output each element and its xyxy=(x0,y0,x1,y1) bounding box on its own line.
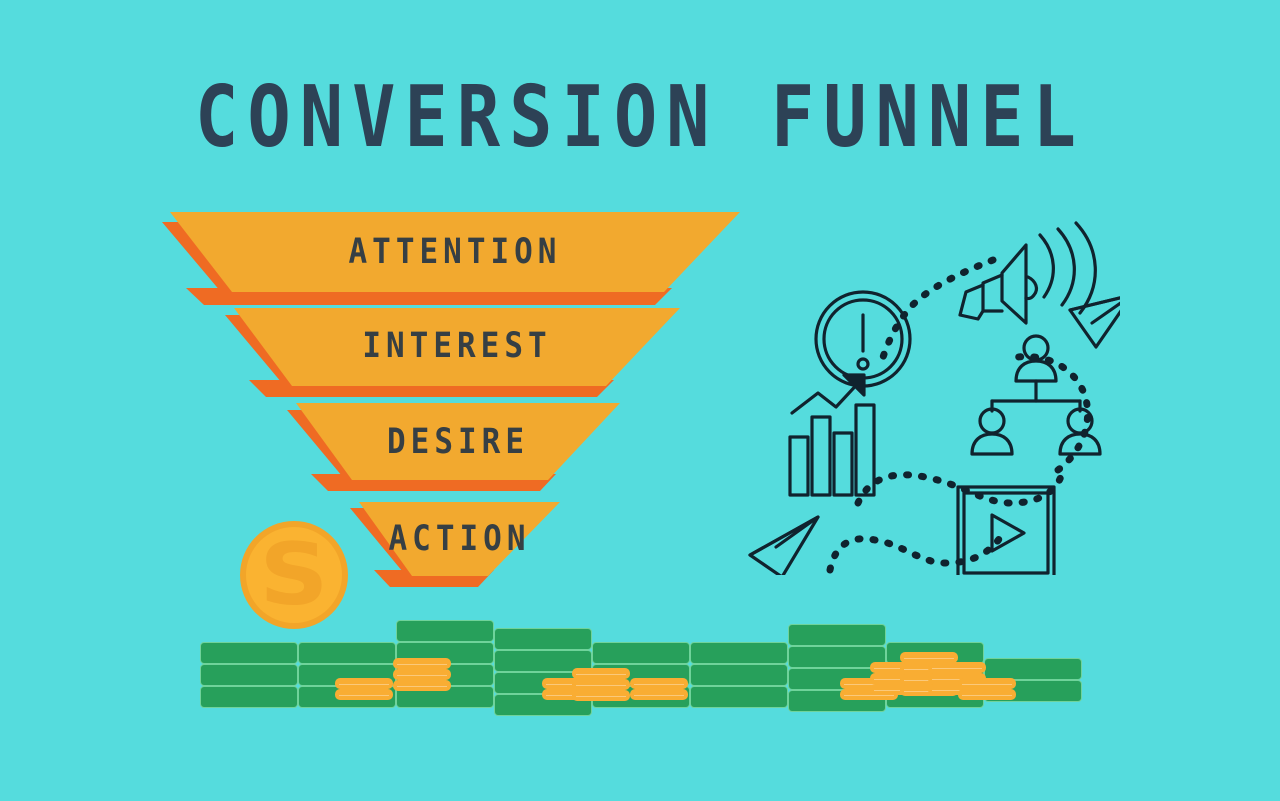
coin-layer xyxy=(958,689,1016,700)
org-chart-icon xyxy=(972,336,1100,454)
money-stacks xyxy=(180,600,1100,720)
funnel-stage-action[interactable]: ACTION xyxy=(0,0,760,640)
bill-layer xyxy=(690,642,788,664)
bill-layer xyxy=(592,642,690,664)
coin-layer xyxy=(928,662,986,673)
funnel-stage-action-label: ACTION xyxy=(359,519,560,559)
coin-layer xyxy=(572,668,630,679)
coin-layer xyxy=(630,678,688,689)
conversion-funnel-infographic: CONVERSION FUNNEL ATTENTION INTEREST xyxy=(0,0,1280,801)
bill-layer xyxy=(494,628,592,650)
bill-layer xyxy=(298,642,396,664)
bar-chart-icon xyxy=(790,375,874,495)
coin-layer xyxy=(393,680,451,691)
marketing-icon-cluster xyxy=(740,215,1120,575)
alert-circle-icon xyxy=(816,292,910,386)
bill-layer xyxy=(200,686,298,708)
coin-layer xyxy=(630,689,688,700)
marketing-icon-cluster-svg xyxy=(740,215,1120,575)
coin-layer xyxy=(958,678,1016,689)
coin-layer xyxy=(335,689,393,700)
bill-layer xyxy=(690,664,788,686)
coin-layer xyxy=(572,679,630,690)
bill-layer xyxy=(200,664,298,686)
coin-layer xyxy=(393,669,451,680)
funnel-diagram: ATTENTION INTEREST DESIRE xyxy=(0,0,760,640)
coin-layer xyxy=(393,658,451,669)
bill-layer xyxy=(788,624,886,646)
bill-layer xyxy=(984,658,1082,680)
bill-layer xyxy=(690,686,788,708)
bill-layer xyxy=(396,620,494,642)
paper-plane-icon xyxy=(1070,295,1120,347)
paper-plane-icon-2 xyxy=(750,517,818,575)
coin-layer xyxy=(572,690,630,701)
bill-layer xyxy=(200,642,298,664)
coin-layer xyxy=(335,678,393,689)
